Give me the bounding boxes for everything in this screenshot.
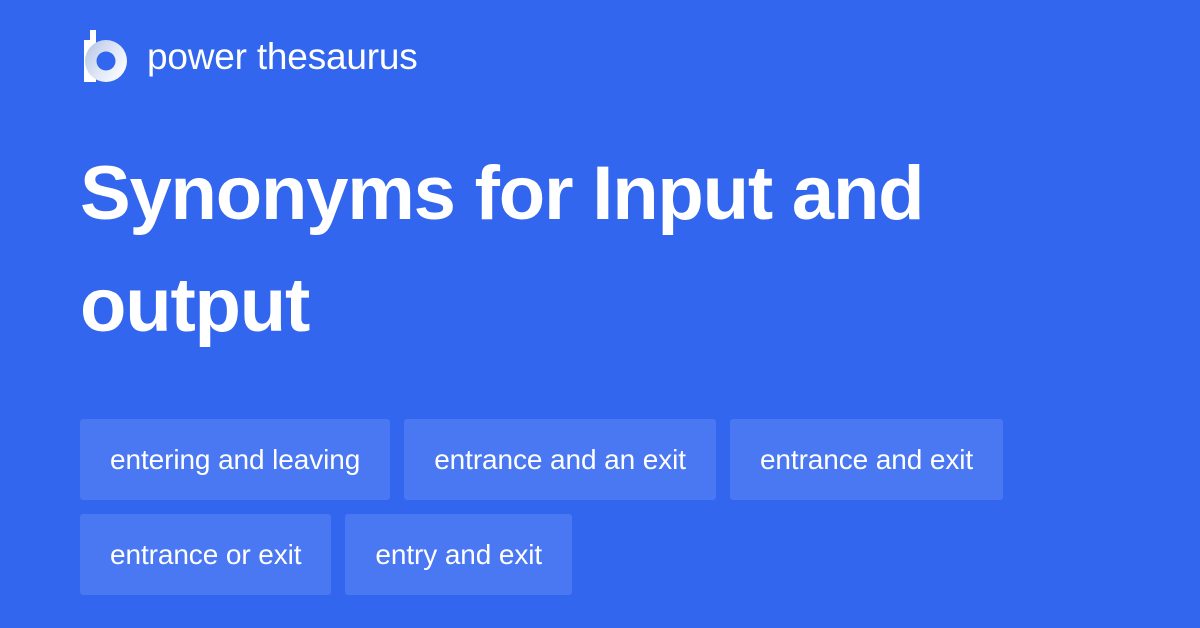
synonym-chip-list: entering and leaving entrance and an exi…: [80, 419, 1120, 595]
page-title: Synonyms for Input and output: [80, 138, 1060, 362]
synonym-chip[interactable]: entrance and exit: [730, 419, 1003, 500]
brand-name: power thesaurus: [147, 38, 418, 75]
synonym-chip[interactable]: entrance or exit: [80, 514, 331, 595]
brand-logo[interactable]: power thesaurus: [80, 30, 418, 82]
social-share-card: power thesaurus Synonyms for Input and o…: [0, 0, 1200, 628]
synonym-chip[interactable]: entrance and an exit: [404, 419, 716, 500]
synonym-chip[interactable]: entry and exit: [345, 514, 572, 595]
synonym-chip[interactable]: entering and leaving: [80, 419, 390, 500]
power-thesaurus-b-logo-icon: [80, 30, 130, 82]
